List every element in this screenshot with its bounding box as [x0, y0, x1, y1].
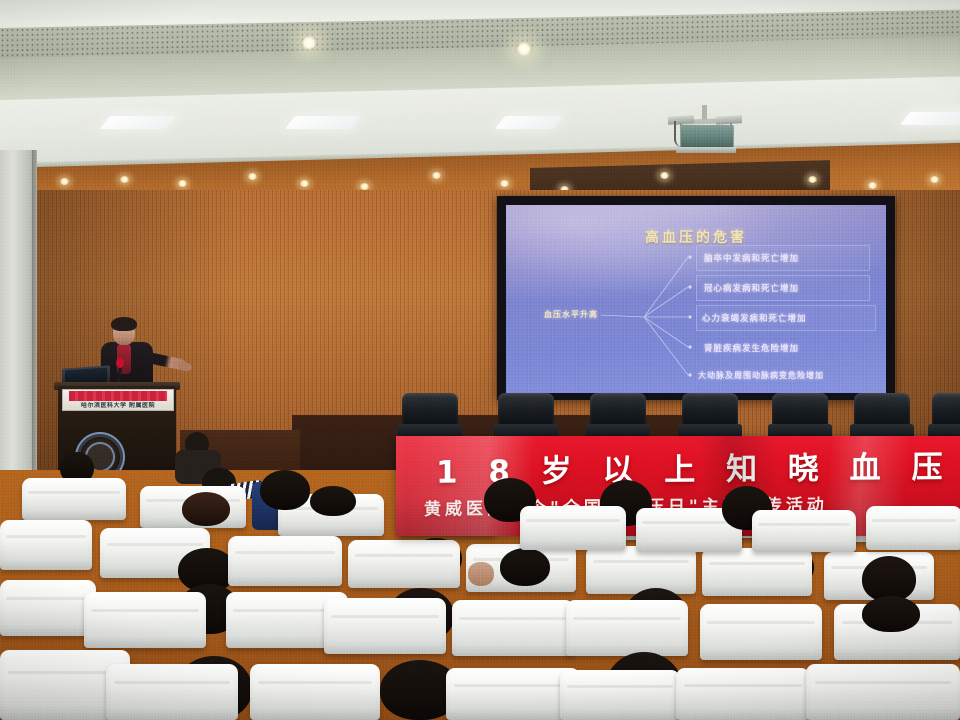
ceiling-slot-light — [495, 116, 563, 129]
audience-chair — [806, 664, 960, 720]
ceiling-spotlight — [300, 180, 309, 187]
audience-chair — [0, 520, 92, 570]
stage-chair-back — [682, 393, 738, 427]
ceiling-slot-light — [285, 116, 361, 129]
slide-bullet-2: 冠心病发病和死亡增加 — [704, 282, 799, 294]
slide-bullet-5: 大动脉及周围动脉病变危险增加 — [698, 370, 824, 381]
stage-chair-back — [498, 393, 554, 427]
slide-bullet-3: 心力衰竭发病和死亡增加 — [702, 312, 807, 324]
audience-head — [182, 492, 230, 526]
audience-chair — [560, 670, 680, 720]
audience-chair — [324, 598, 446, 654]
ceiling-spotlight — [360, 183, 369, 190]
slide-bullet-1: 脑卒中发病和死亡增加 — [704, 252, 799, 264]
ceiling-spotlight — [248, 173, 257, 180]
audience-chair — [566, 600, 688, 656]
audience-chair — [752, 510, 856, 552]
ceiling-spotlight — [930, 176, 939, 183]
audience-chair — [228, 536, 342, 586]
ceiling-spotlight — [500, 180, 509, 187]
pillar-edge — [32, 150, 37, 480]
ceiling-projector — [666, 105, 746, 157]
ceiling-spotlight — [660, 172, 669, 179]
slide-source-label: 血压水平升高 — [541, 309, 601, 320]
ceiling-downlight — [515, 42, 533, 56]
ceiling-spotlight — [868, 182, 877, 189]
ceiling-downlight — [300, 36, 318, 50]
audience-chair — [586, 546, 696, 594]
speaker-glasses — [116, 329, 132, 334]
audience-chair — [22, 478, 126, 520]
podium-sign: 哈尔滨医科大学 附属医院 — [62, 389, 174, 411]
stage-chair-back — [402, 393, 458, 427]
podium-sign-text: 哈尔滨医科大学 附属医院 — [63, 400, 173, 408]
projector-base — [676, 147, 736, 153]
audience-head — [500, 548, 550, 586]
audience-head — [260, 470, 310, 510]
ceiling-slot-light — [900, 112, 960, 125]
audience-chair — [250, 664, 380, 720]
projection-screen-frame: 高血压的危害 血压水平升高 脑卒中发病和死亡增加 冠心病发病和死亡增加 心力衰竭… — [497, 196, 895, 400]
ceiling-spotlight — [432, 172, 441, 179]
audience-head — [862, 596, 920, 632]
stage-chair-back — [590, 393, 646, 427]
ceiling-spotlight — [178, 180, 187, 187]
audience-chair — [106, 664, 238, 720]
projector-bracket-right — [716, 115, 742, 125]
projection-screen: 高血压的危害 血压水平升高 脑卒中发病和死亡增加 冠心病发病和死亡增加 心力衰竭… — [506, 205, 886, 393]
ceiling-spotlight — [120, 176, 129, 183]
stage-chair-back — [772, 393, 828, 427]
audience-chair — [700, 604, 822, 660]
audience-chair — [348, 540, 460, 588]
audience-chair — [702, 548, 812, 596]
ceiling-spotlight — [60, 178, 69, 185]
ceiling-spotlight — [808, 176, 817, 183]
slide-title: 高血压的危害 — [506, 227, 886, 247]
podium-microphone-head — [116, 358, 124, 368]
audience-face — [468, 562, 494, 586]
stage-chair-back — [854, 393, 910, 427]
ceiling-slot-light — [100, 116, 176, 129]
audience-chair — [0, 580, 96, 636]
projector-body — [680, 125, 734, 149]
stage-chair-back — [932, 393, 960, 427]
slide-bullet-4: 肾脏疾病发生危险增加 — [704, 342, 799, 354]
audience-chair — [520, 506, 626, 550]
audience-chair — [452, 600, 574, 656]
auditorium-photo: 高血压的危害 血压水平升高 脑卒中发病和死亡增加 冠心病发病和死亡增加 心力衰竭… — [0, 0, 960, 720]
audience-head — [310, 486, 356, 516]
projector-cable — [674, 121, 686, 147]
audience-chair — [676, 668, 810, 720]
audience-chair — [84, 592, 206, 648]
audience-chair — [866, 506, 960, 550]
structural-pillar — [0, 150, 36, 480]
